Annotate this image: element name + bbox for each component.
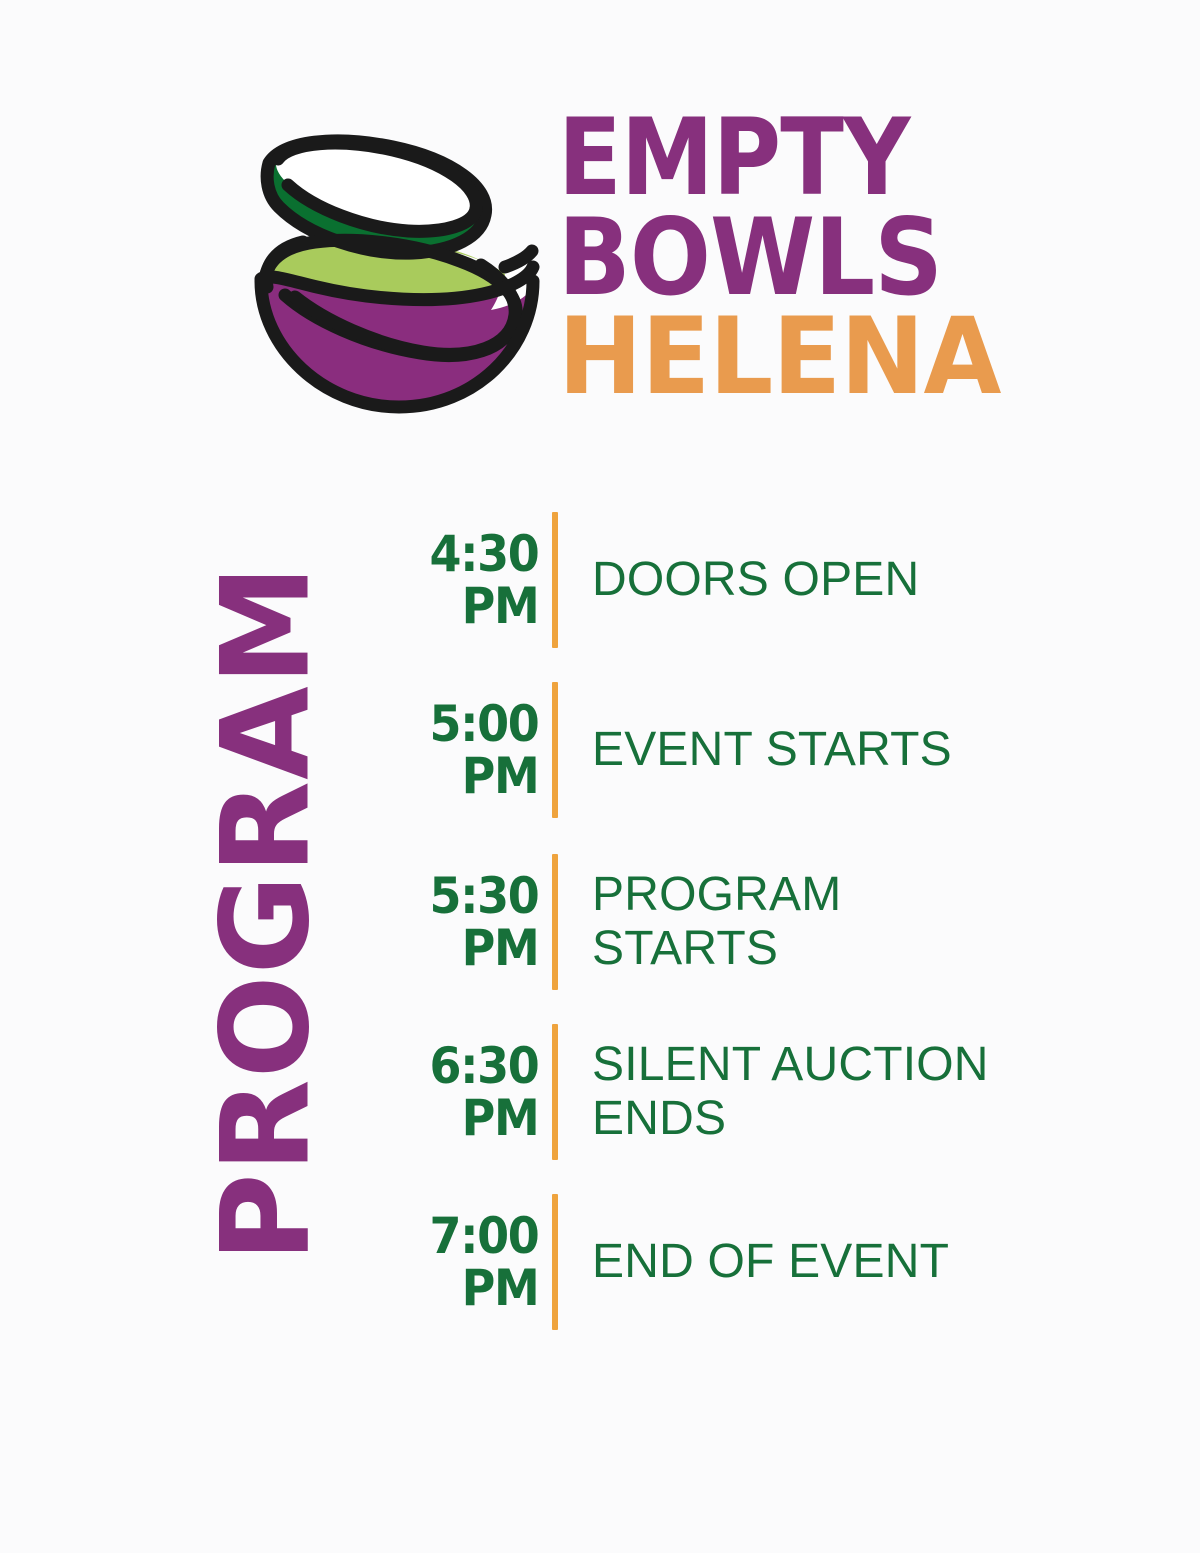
schedule-row-label: EVENT STARTS	[558, 682, 1080, 818]
schedule-label-text: SILENT AUCTION ENDS	[592, 1038, 1080, 1146]
program-title-text: PROGRAM	[206, 563, 327, 1261]
schedule-row-time: 5:00 PM	[400, 682, 552, 818]
schedule-time-value: 4:30	[429, 528, 538, 581]
schedule-row-time: 6:30 PM	[400, 1024, 552, 1160]
wordmark-line-empty: EMPTY	[558, 109, 928, 207]
schedule-time-value: 7:00	[429, 1210, 538, 1263]
program-schedule: 4:30 PM DOORS OPEN 5:00 PM EVENT STARTS …	[400, 512, 1080, 1330]
schedule-row: 6:30 PM SILENT AUCTION ENDS	[400, 1024, 1080, 1160]
schedule-label-text: END OF EVENT	[592, 1235, 1080, 1289]
schedule-row-label: PROGRAM STARTS	[558, 854, 1080, 990]
logo-block: EMPTY BOWLS HELENA	[0, 95, 1200, 445]
schedule-time-value: 5:30	[429, 870, 538, 923]
schedule-row-time: 7:00 PM	[400, 1194, 552, 1330]
schedule-time-value: 6:30	[429, 1040, 538, 1093]
schedule-row: 4:30 PM DOORS OPEN	[400, 512, 1080, 648]
schedule-time-value: 5:00	[429, 698, 538, 751]
wordmark-line-helena: HELENA	[558, 308, 957, 406]
program-section-title: PROGRAM	[186, 575, 346, 1250]
schedule-row: 5:00 PM EVENT STARTS	[400, 682, 1080, 818]
schedule-label-text: EVENT STARTS	[592, 723, 1080, 777]
schedule-time-meridiem: PM	[461, 750, 538, 803]
wordmark-line-bowls: BOWLS	[558, 209, 936, 307]
schedule-time-meridiem: PM	[461, 922, 538, 975]
schedule-row-label: SILENT AUCTION ENDS	[558, 1024, 1080, 1160]
schedule-row: 7:00 PM END OF EVENT	[400, 1194, 1080, 1330]
schedule-row-time: 4:30 PM	[400, 512, 552, 648]
schedule-time-meridiem: PM	[461, 1262, 538, 1315]
schedule-label-text: DOORS OPEN	[592, 553, 1080, 607]
logo-wordmark: EMPTY BOWLS HELENA	[558, 109, 978, 429]
schedule-row-label: END OF EVENT	[558, 1194, 1080, 1330]
schedule-time-meridiem: PM	[461, 580, 538, 633]
stacked-bowls-icon	[245, 115, 545, 435]
schedule-time-meridiem: PM	[461, 1092, 538, 1145]
schedule-row: 5:30 PM PROGRAM STARTS	[400, 854, 1080, 990]
schedule-row-time: 5:30 PM	[400, 854, 552, 990]
schedule-label-text: PROGRAM STARTS	[592, 868, 1080, 976]
schedule-row-label: DOORS OPEN	[558, 512, 1080, 648]
